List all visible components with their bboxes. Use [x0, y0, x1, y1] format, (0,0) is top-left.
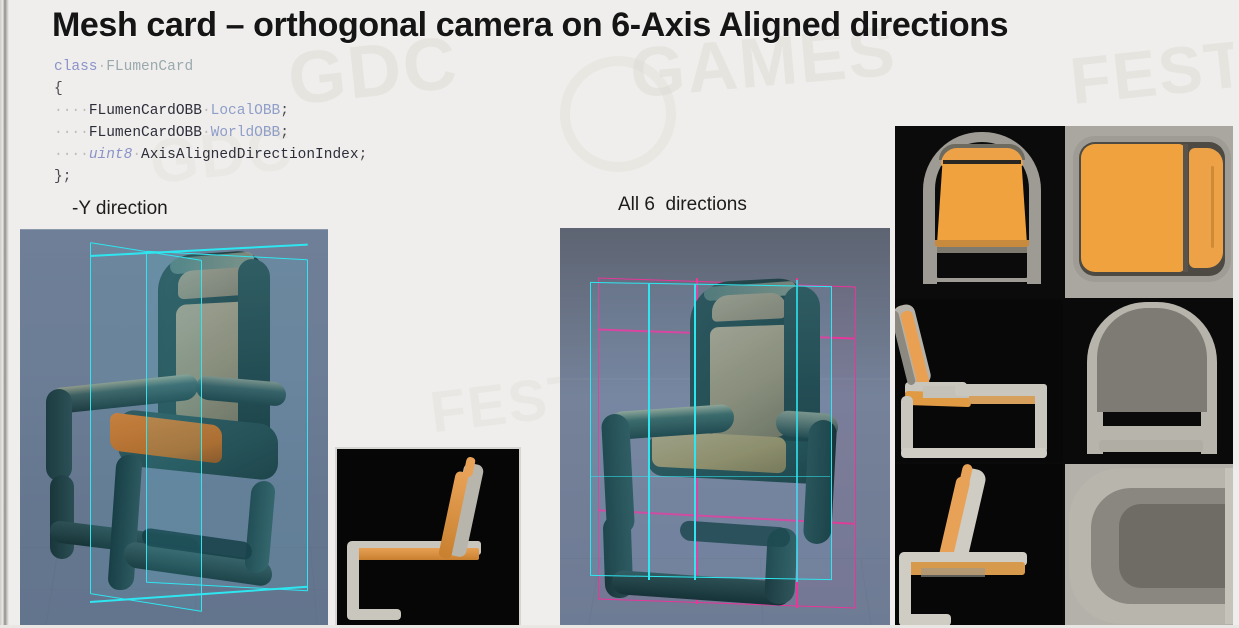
code-snippet: class·FLumenCard{····FLumenCardOBB·Local… — [54, 56, 367, 188]
code-line: }; — [54, 166, 367, 188]
card-preview-side[interactable] — [337, 449, 519, 628]
code-token: · — [202, 103, 211, 119]
slide-canvas: GDC GDC GAMES FEST FEST Mesh card – orth… — [0, 0, 1239, 628]
code-token: { — [54, 81, 63, 97]
watermark-ring-icon — [552, 48, 683, 179]
code-token: FLumenCardOBB — [89, 103, 202, 119]
code-token: class — [54, 59, 98, 75]
code-token: ···· — [54, 103, 89, 119]
mesh-card-side-b[interactable] — [895, 464, 1063, 628]
page-title: Mesh card – orthogonal camera on 6-Axis … — [52, 6, 1008, 45]
right-margin — [1233, 0, 1239, 628]
code-token: ; — [280, 125, 289, 141]
code-line: { — [54, 78, 367, 100]
mesh-card-side-a[interactable] — [895, 300, 1063, 462]
code-token: AxisAlignedDirectionIndex — [141, 147, 359, 163]
code-token: LocalOBB — [211, 103, 281, 119]
code-token: WorldOBB — [211, 125, 281, 141]
mesh-card-top[interactable] — [1065, 126, 1239, 298]
code-line: class·FLumenCard — [54, 56, 367, 78]
single-direction-viewport[interactable] — [20, 229, 328, 628]
code-token: FLumenCardOBB — [89, 125, 202, 141]
mesh-card-front[interactable] — [895, 126, 1063, 298]
film-left-edge — [0, 0, 9, 628]
code-token: · — [202, 125, 211, 141]
mesh-card-bottom[interactable] — [1065, 464, 1239, 628]
mesh-card-atlas[interactable] — [895, 126, 1239, 628]
code-line: ····FLumenCardOBB·WorldOBB; — [54, 122, 367, 144]
caption-right-viewport: All 6 directions — [618, 194, 747, 216]
code-token: uint8 — [89, 147, 133, 163]
caption-left-viewport: -Y direction — [72, 198, 168, 220]
code-line: ····uint8·AxisAlignedDirectionIndex; — [54, 144, 367, 166]
code-token: · — [98, 59, 107, 75]
code-token: }; — [54, 169, 71, 185]
code-token: ···· — [54, 147, 89, 163]
watermark-text: FEST — [1067, 25, 1239, 119]
code-line: ····FLumenCardOBB·LocalOBB; — [54, 100, 367, 122]
code-token: FLumenCard — [106, 59, 193, 75]
code-token: ; — [280, 103, 289, 119]
all-directions-viewport[interactable] — [560, 228, 890, 628]
code-token: ; — [359, 147, 368, 163]
mesh-card-back[interactable] — [1065, 300, 1239, 462]
code-token: ···· — [54, 125, 89, 141]
code-token: · — [132, 147, 141, 163]
